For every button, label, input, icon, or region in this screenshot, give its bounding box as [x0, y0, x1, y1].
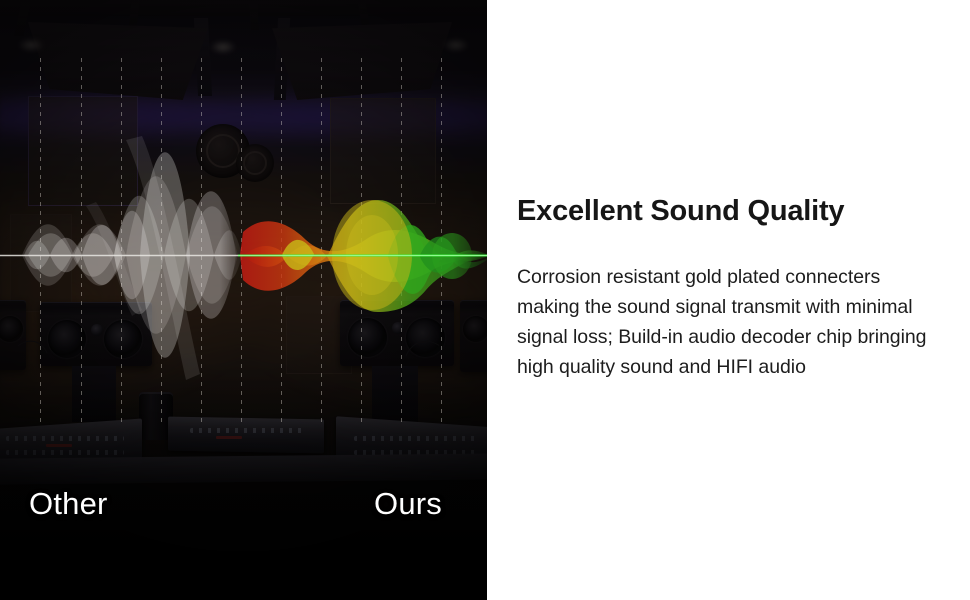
- feature-description: Corrosion resistant gold plated connecte…: [517, 262, 942, 382]
- studio-image-panel: Other Ours: [0, 0, 487, 600]
- other-waveform-group: [22, 136, 242, 380]
- feature-banner: Other Ours Excellent Sound Quality Corro…: [0, 0, 970, 600]
- comparison-label-ours: Ours: [374, 488, 442, 519]
- feature-text-panel: Excellent Sound Quality Corrosion resist…: [487, 0, 970, 600]
- feature-title: Excellent Sound Quality: [517, 194, 844, 229]
- comparison-label-other: Other: [29, 488, 108, 519]
